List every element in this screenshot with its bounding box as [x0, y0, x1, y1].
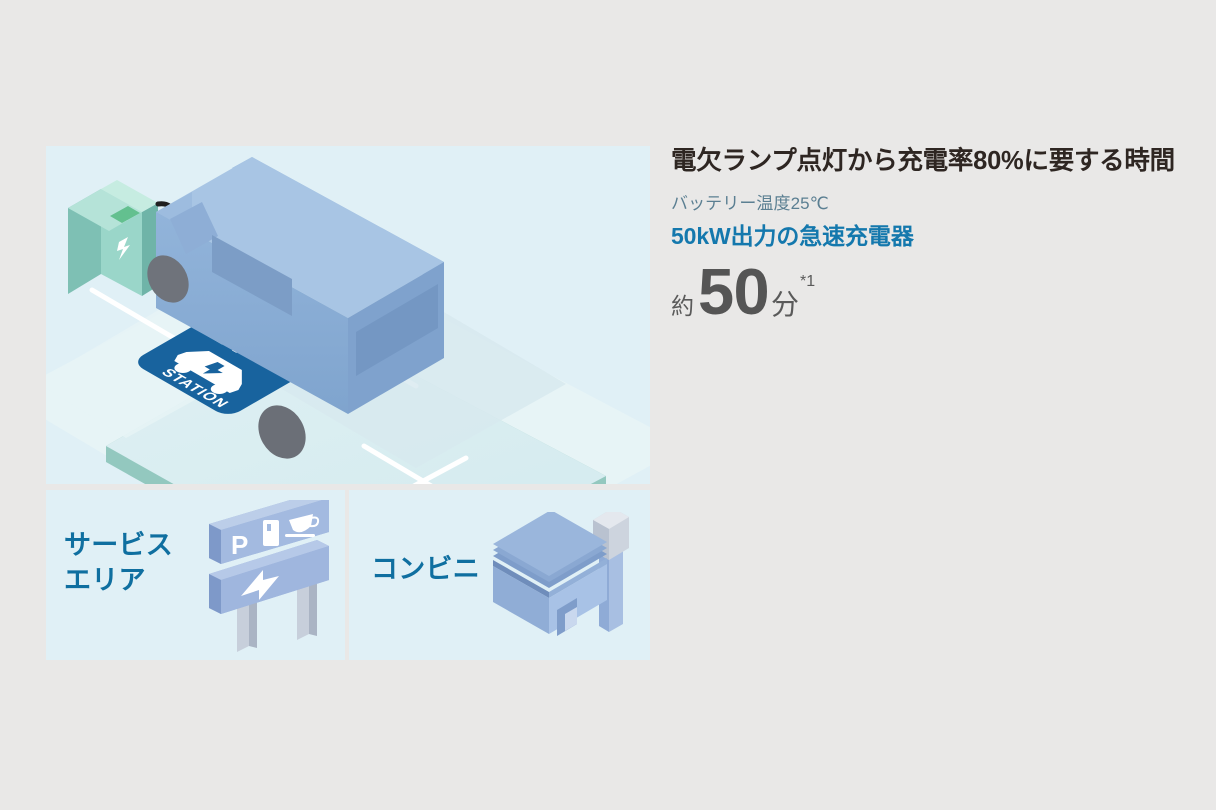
- duration-value: 50: [698, 261, 769, 323]
- convenience-store-panel: コンビニ: [349, 490, 650, 660]
- ev-charging-scene-illustration: EV STATION: [46, 146, 650, 484]
- page-title: 電欠ランプ点灯から充電率80%に要する時間: [671, 146, 1191, 177]
- charging-duration: 約 50 分 *1: [671, 261, 1191, 323]
- battery-temperature-note: バッテリー温度25℃: [671, 194, 1191, 214]
- convenience-store-building-icon: [489, 512, 639, 642]
- duration-footnote-marker: *1: [800, 273, 815, 291]
- vending-machine-icon: [263, 520, 279, 546]
- charging-time-info: 電欠ランプ点灯から充電率80%に要する時間 バッテリー温度25℃ 50kW出力の…: [671, 146, 1191, 323]
- illustration-column: EV STATION: [46, 146, 650, 660]
- store-building: [493, 512, 607, 636]
- parking-p-icon: P: [231, 530, 248, 560]
- service-area-label: サービス エリア: [64, 528, 173, 597]
- charger-spec-label: 50kW出力の急速充電器: [671, 223, 1191, 251]
- quick-charger-unit: [68, 180, 158, 296]
- service-area-panel: サービス エリア P: [46, 490, 345, 660]
- ev-charging-scene-panel: EV STATION: [46, 146, 650, 484]
- highway-service-sign-icon: P: [201, 500, 341, 652]
- convenience-store-label: コンビニ: [371, 552, 480, 587]
- duration-unit: 分: [771, 283, 799, 323]
- duration-prefix: 約: [671, 287, 694, 321]
